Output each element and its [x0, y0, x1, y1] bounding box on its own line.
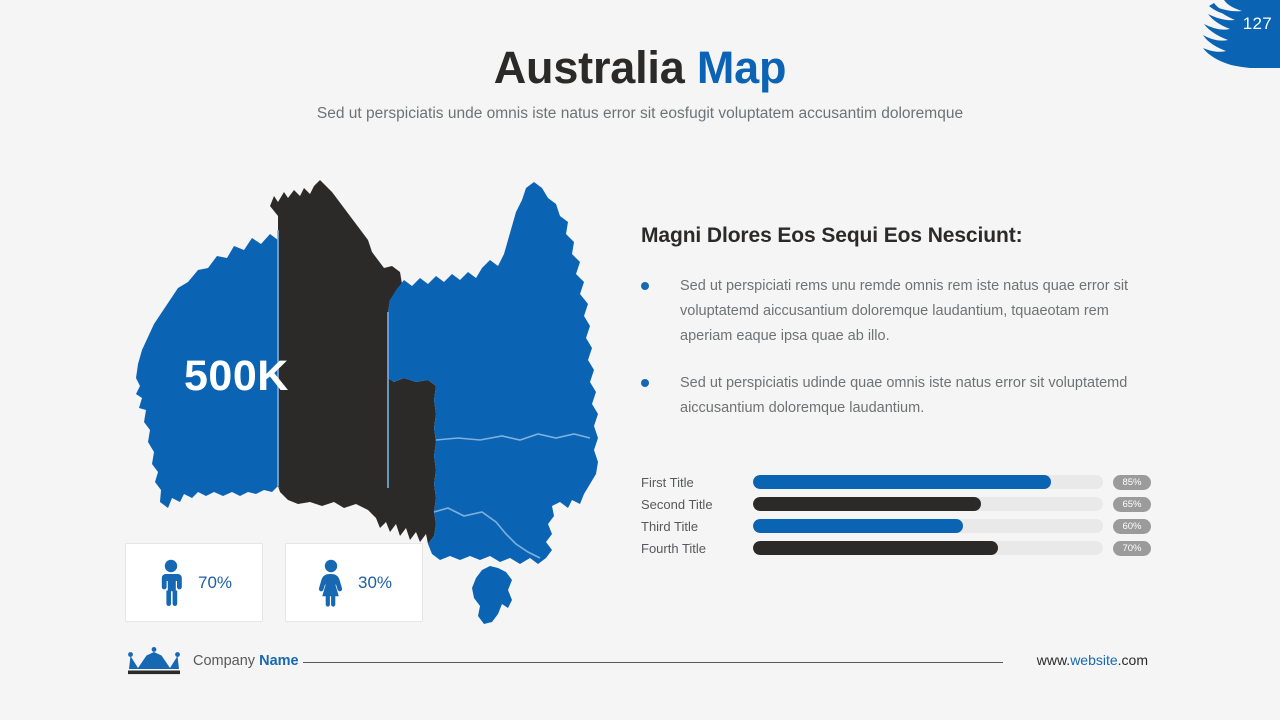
bar-label: Fourth Title: [641, 541, 753, 556]
list-item: Sed ut perspiciati rems unu remde omnis …: [641, 274, 1161, 349]
bullet-list: Sed ut perspiciati rems unu remde omnis …: [641, 274, 1161, 421]
company-name: Company Name: [193, 653, 299, 669]
bar-fill: [753, 519, 963, 533]
table-row: First Title 85%: [641, 471, 1161, 493]
header: Australia Map Sed ut perspiciatis unde o…: [0, 44, 1280, 123]
female-figure-icon: [316, 559, 346, 607]
map-region-tasmania[interactable]: [472, 566, 512, 624]
website-prefix: www.: [1037, 652, 1070, 668]
website-url[interactable]: www.website.com: [1037, 652, 1148, 668]
slide: 127 Australia Map Sed ut perspiciatis un…: [0, 0, 1280, 720]
divider: [303, 662, 1003, 663]
map-region-northern-territory[interactable]: [270, 180, 402, 488]
page-subtitle: Sed ut perspiciatis unde omnis iste natu…: [0, 105, 1280, 123]
bar-track: [753, 519, 1103, 533]
status-badge: 85%: [1113, 475, 1151, 490]
stat-card-female[interactable]: 30%: [285, 543, 423, 622]
bar-fill: [753, 475, 1051, 489]
male-figure-icon: [156, 559, 186, 607]
bar-fill: [753, 541, 998, 555]
bar-label: Second Title: [641, 497, 753, 512]
bar-label: Third Title: [641, 519, 753, 534]
bullet-text: Sed ut perspiciatis udinde quae omnis is…: [680, 371, 1135, 421]
company-name-main: Company: [193, 653, 259, 669]
bar-track: [753, 541, 1103, 555]
status-badge: 70%: [1113, 541, 1151, 556]
section-heading: Magni Dlores Eos Sequi Eos Nesciunt:: [641, 224, 1161, 248]
company-name-accent: Name: [259, 653, 299, 669]
list-item: Sed ut perspiciatis udinde quae omnis is…: [641, 371, 1161, 421]
title-main: Australia: [494, 42, 685, 93]
bar-label: First Title: [641, 475, 753, 490]
stat-cards: 70% 30%: [125, 543, 423, 622]
table-row: Third Title 60%: [641, 515, 1161, 537]
progress-bar-chart: First Title 85% Second Title 65% Third T…: [641, 471, 1161, 559]
stat-card-male-value: 70%: [198, 573, 232, 593]
footer: Company Name www.website.com: [0, 644, 1280, 684]
website-accent: website: [1070, 652, 1117, 668]
table-row: Fourth Title 70%: [641, 537, 1161, 559]
bullet-text: Sed ut perspiciati rems unu remde omnis …: [680, 274, 1135, 349]
title-accent: Map: [697, 42, 786, 93]
bar-track: [753, 475, 1103, 489]
map-value-label: 500K: [184, 352, 289, 401]
badge-number: 127: [1243, 14, 1272, 34]
page-title: Australia Map: [0, 44, 1280, 91]
bar-track: [753, 497, 1103, 511]
stat-card-female-value: 30%: [358, 573, 392, 593]
bullet-dot-icon: [641, 379, 649, 387]
table-row: Second Title 65%: [641, 493, 1161, 515]
website-suffix: .com: [1118, 652, 1148, 668]
status-badge: 60%: [1113, 519, 1151, 534]
status-badge: 65%: [1113, 497, 1151, 512]
right-column: Magni Dlores Eos Sequi Eos Nesciunt: Sed…: [641, 224, 1161, 443]
stat-card-male[interactable]: 70%: [125, 543, 263, 622]
logo-group[interactable]: Company Name: [126, 646, 299, 676]
bar-fill: [753, 497, 981, 511]
crown-icon: [126, 646, 182, 676]
bullet-dot-icon: [641, 282, 649, 290]
